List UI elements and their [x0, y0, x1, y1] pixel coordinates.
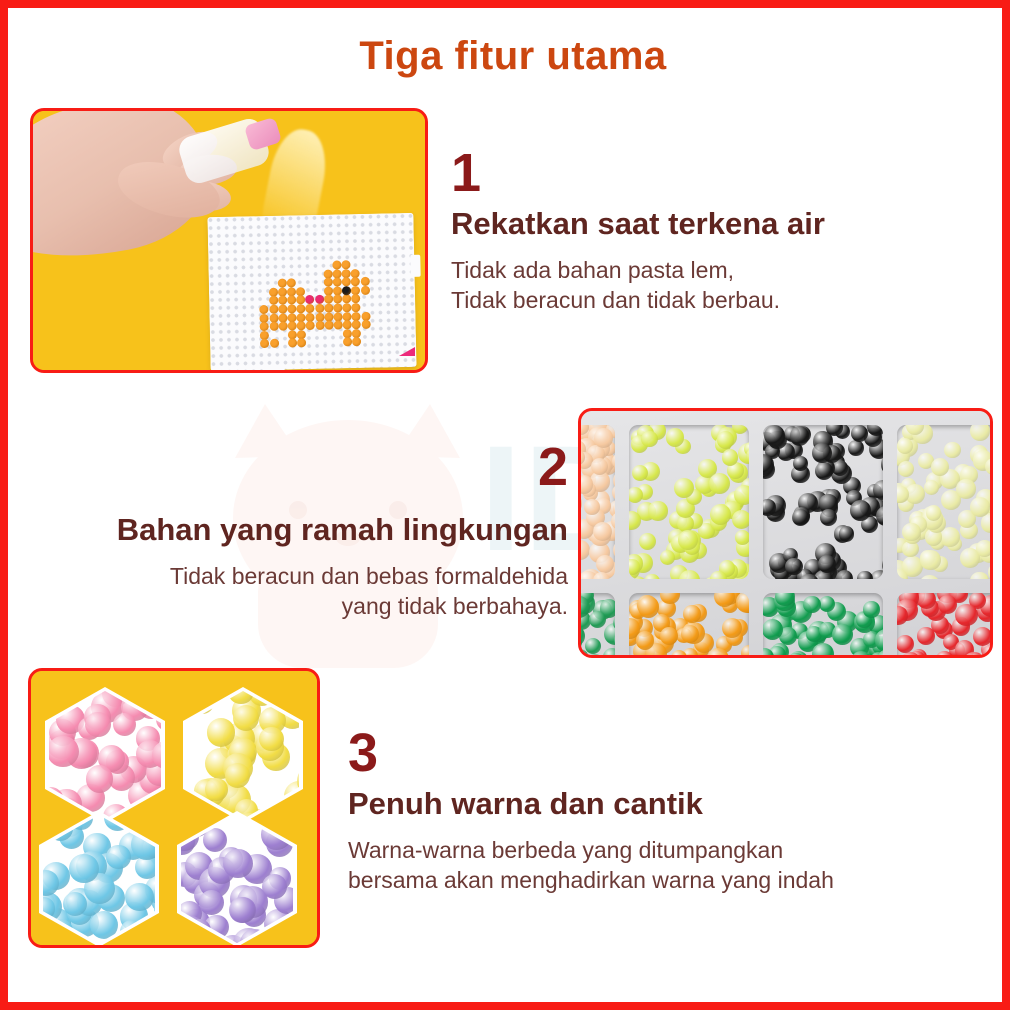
- bead: [955, 604, 977, 626]
- tray-compartment: [629, 425, 749, 579]
- corner-marker: [399, 347, 415, 356]
- bead: [683, 605, 701, 623]
- bead-pixel: [296, 304, 305, 313]
- bead: [641, 431, 658, 448]
- bead: [976, 540, 993, 557]
- bead-pixel: [333, 278, 342, 287]
- bead: [125, 883, 153, 911]
- bead: [815, 462, 833, 480]
- bead: [931, 458, 949, 476]
- bead: [863, 601, 879, 617]
- bead: [732, 510, 749, 530]
- bead: [679, 570, 700, 579]
- bead-pixel: [278, 322, 287, 331]
- bead: [839, 526, 855, 542]
- bead: [578, 540, 590, 560]
- bead: [584, 499, 600, 515]
- bead: [603, 648, 615, 658]
- bead-pixel: [315, 304, 324, 313]
- bead: [924, 480, 939, 495]
- bead-pixel: [324, 304, 333, 313]
- bead: [205, 778, 228, 801]
- bead: [717, 431, 735, 449]
- feature-2-image: [578, 408, 993, 658]
- bead: [709, 473, 730, 494]
- bead-pixel: [352, 337, 361, 346]
- bead: [223, 849, 253, 879]
- feature-3-image: [28, 668, 320, 948]
- bead: [734, 485, 749, 505]
- bead-pixel: [288, 322, 297, 331]
- bead: [636, 631, 655, 650]
- tray-compartment: [897, 593, 993, 658]
- bead: [832, 624, 853, 645]
- bead-pixel: [352, 303, 361, 312]
- bead: [732, 425, 749, 434]
- feature-3-number: 3: [348, 726, 988, 780]
- bead-pixel: [278, 279, 287, 288]
- bead: [812, 443, 832, 463]
- bead: [86, 765, 114, 793]
- bead: [259, 727, 283, 751]
- feature-3-text: 3 Penuh warna dan cantik Warna-warna ber…: [348, 726, 988, 895]
- bead-pixel: [288, 339, 297, 348]
- bead: [985, 458, 993, 475]
- bead: [666, 428, 684, 446]
- bead: [992, 475, 993, 494]
- bead: [970, 572, 988, 579]
- tray-compartment: [629, 593, 749, 658]
- bead: [938, 595, 958, 615]
- bead: [660, 627, 678, 645]
- bead: [49, 736, 79, 767]
- tray-compartment: [763, 593, 883, 658]
- feature-2-number: 2: [28, 440, 568, 494]
- bead: [920, 550, 940, 570]
- feature-2-description: Tidak beracun dan bebas formaldehida yan…: [28, 561, 568, 622]
- bead: [678, 530, 698, 550]
- bead: [674, 478, 694, 498]
- bead: [578, 439, 580, 456]
- bead: [785, 558, 803, 576]
- bead: [648, 501, 667, 520]
- bead-pixel: [269, 322, 278, 331]
- bead: [850, 500, 871, 521]
- bead-pixel: [270, 339, 279, 348]
- bead-pixel: [360, 277, 369, 286]
- bead-pixel: [260, 322, 269, 331]
- feature-1-image: [30, 108, 428, 373]
- bead: [593, 522, 612, 541]
- bead: [944, 442, 960, 458]
- bead: [629, 487, 643, 503]
- bead-pixel: [315, 321, 324, 330]
- bead: [90, 911, 118, 939]
- bead: [902, 523, 921, 542]
- bead: [113, 713, 136, 736]
- bead-pixel: [297, 321, 306, 330]
- bead-pixel: [297, 339, 306, 348]
- bead-pixel: [351, 277, 360, 286]
- feature-1-heading: Rekatkan saat terkena air: [451, 206, 971, 243]
- bead: [710, 504, 731, 525]
- bead: [63, 892, 87, 916]
- bead: [736, 593, 749, 613]
- bead: [926, 505, 941, 520]
- tray-compartment: [897, 425, 993, 579]
- bead: [589, 611, 606, 628]
- bead: [897, 635, 914, 653]
- bead-pixel: [343, 338, 352, 347]
- bead: [613, 540, 615, 560]
- bead: [955, 640, 975, 658]
- bead: [956, 479, 975, 498]
- bead: [793, 456, 808, 471]
- bead-pixel: [306, 321, 315, 330]
- feature-1-number: 1: [451, 146, 971, 200]
- bead: [199, 890, 224, 915]
- bead: [585, 638, 601, 654]
- bead: [917, 627, 935, 645]
- bead-pixel: [342, 286, 351, 295]
- bead-pixel: [332, 260, 341, 269]
- bead: [106, 845, 131, 870]
- bead-pixel: [333, 303, 342, 312]
- bead: [820, 509, 837, 526]
- infographic-page: ID Tiga fitur utama 1 Rekatkan: [0, 0, 1010, 1010]
- bead: [763, 656, 775, 658]
- bead: [722, 618, 742, 638]
- bead: [681, 625, 699, 643]
- bead: [746, 656, 749, 658]
- bead-pixel: [278, 305, 287, 314]
- feature-2-heading: Bahan yang ramah lingkungan: [28, 512, 568, 549]
- tray-compartment: [578, 593, 615, 658]
- bead-pixel: [324, 321, 333, 330]
- bead-pixel: [342, 303, 351, 312]
- bead-pixel: [260, 339, 269, 348]
- bead: [741, 655, 749, 658]
- bead-pixel: [306, 304, 315, 313]
- bead-pixel: [334, 321, 343, 330]
- bead: [612, 484, 615, 501]
- feature-3-heading: Penuh warna dan cantik: [348, 786, 988, 823]
- feature-1-text: 1 Rekatkan saat terkena air Tidak ada ba…: [451, 146, 971, 315]
- feature-2-text: 2 Bahan yang ramah lingkungan Tidak bera…: [28, 440, 568, 621]
- bead: [639, 533, 656, 550]
- bead-pixel: [287, 279, 296, 288]
- bead-pixel: [260, 305, 269, 314]
- bead: [812, 643, 834, 658]
- bead: [867, 425, 883, 436]
- bead: [819, 596, 835, 612]
- bead: [85, 712, 111, 738]
- feature-1-description: Tidak ada bahan pasta lem, Tidak beracun…: [451, 255, 971, 316]
- bead-pixel: [342, 277, 351, 286]
- bead: [791, 656, 810, 658]
- bead-pixel: [324, 278, 333, 287]
- bead: [897, 657, 914, 658]
- bead: [970, 425, 990, 441]
- bead: [848, 440, 864, 456]
- bead-pixel: [269, 305, 278, 314]
- bead: [991, 557, 993, 575]
- bead: [638, 596, 659, 617]
- bead: [297, 766, 300, 795]
- bead-pixel: [342, 260, 351, 269]
- bead: [857, 571, 872, 579]
- bead: [225, 763, 250, 788]
- bead: [936, 651, 952, 658]
- bead: [897, 438, 913, 454]
- bead: [660, 550, 675, 565]
- bead: [578, 494, 582, 512]
- bead: [790, 426, 810, 446]
- bead: [836, 570, 854, 579]
- page-title: Tiga fitur utama: [8, 34, 1010, 79]
- bead: [972, 656, 988, 658]
- bead: [803, 596, 820, 613]
- bead: [578, 528, 579, 549]
- tray-compartment: [578, 425, 615, 579]
- bead: [919, 575, 940, 579]
- bead: [988, 563, 993, 579]
- bead-pixel: [287, 304, 296, 313]
- bead: [594, 428, 613, 447]
- bead-pixel: [343, 320, 352, 329]
- bead-pixel: [361, 320, 370, 329]
- bead: [968, 656, 989, 658]
- bead: [644, 574, 660, 579]
- bead: [792, 509, 809, 526]
- bead: [69, 854, 98, 883]
- bead-pixel: [360, 286, 369, 295]
- bead: [741, 645, 749, 658]
- pegboard: [207, 213, 416, 371]
- bead-pixel: [352, 320, 361, 329]
- bead: [203, 828, 227, 852]
- tray-compartment: [763, 425, 883, 579]
- bead: [578, 479, 580, 498]
- bead: [735, 530, 749, 545]
- bead: [898, 461, 914, 477]
- feature-3-description: Warna-warna berbeda yang ditumpangkan be…: [348, 835, 988, 896]
